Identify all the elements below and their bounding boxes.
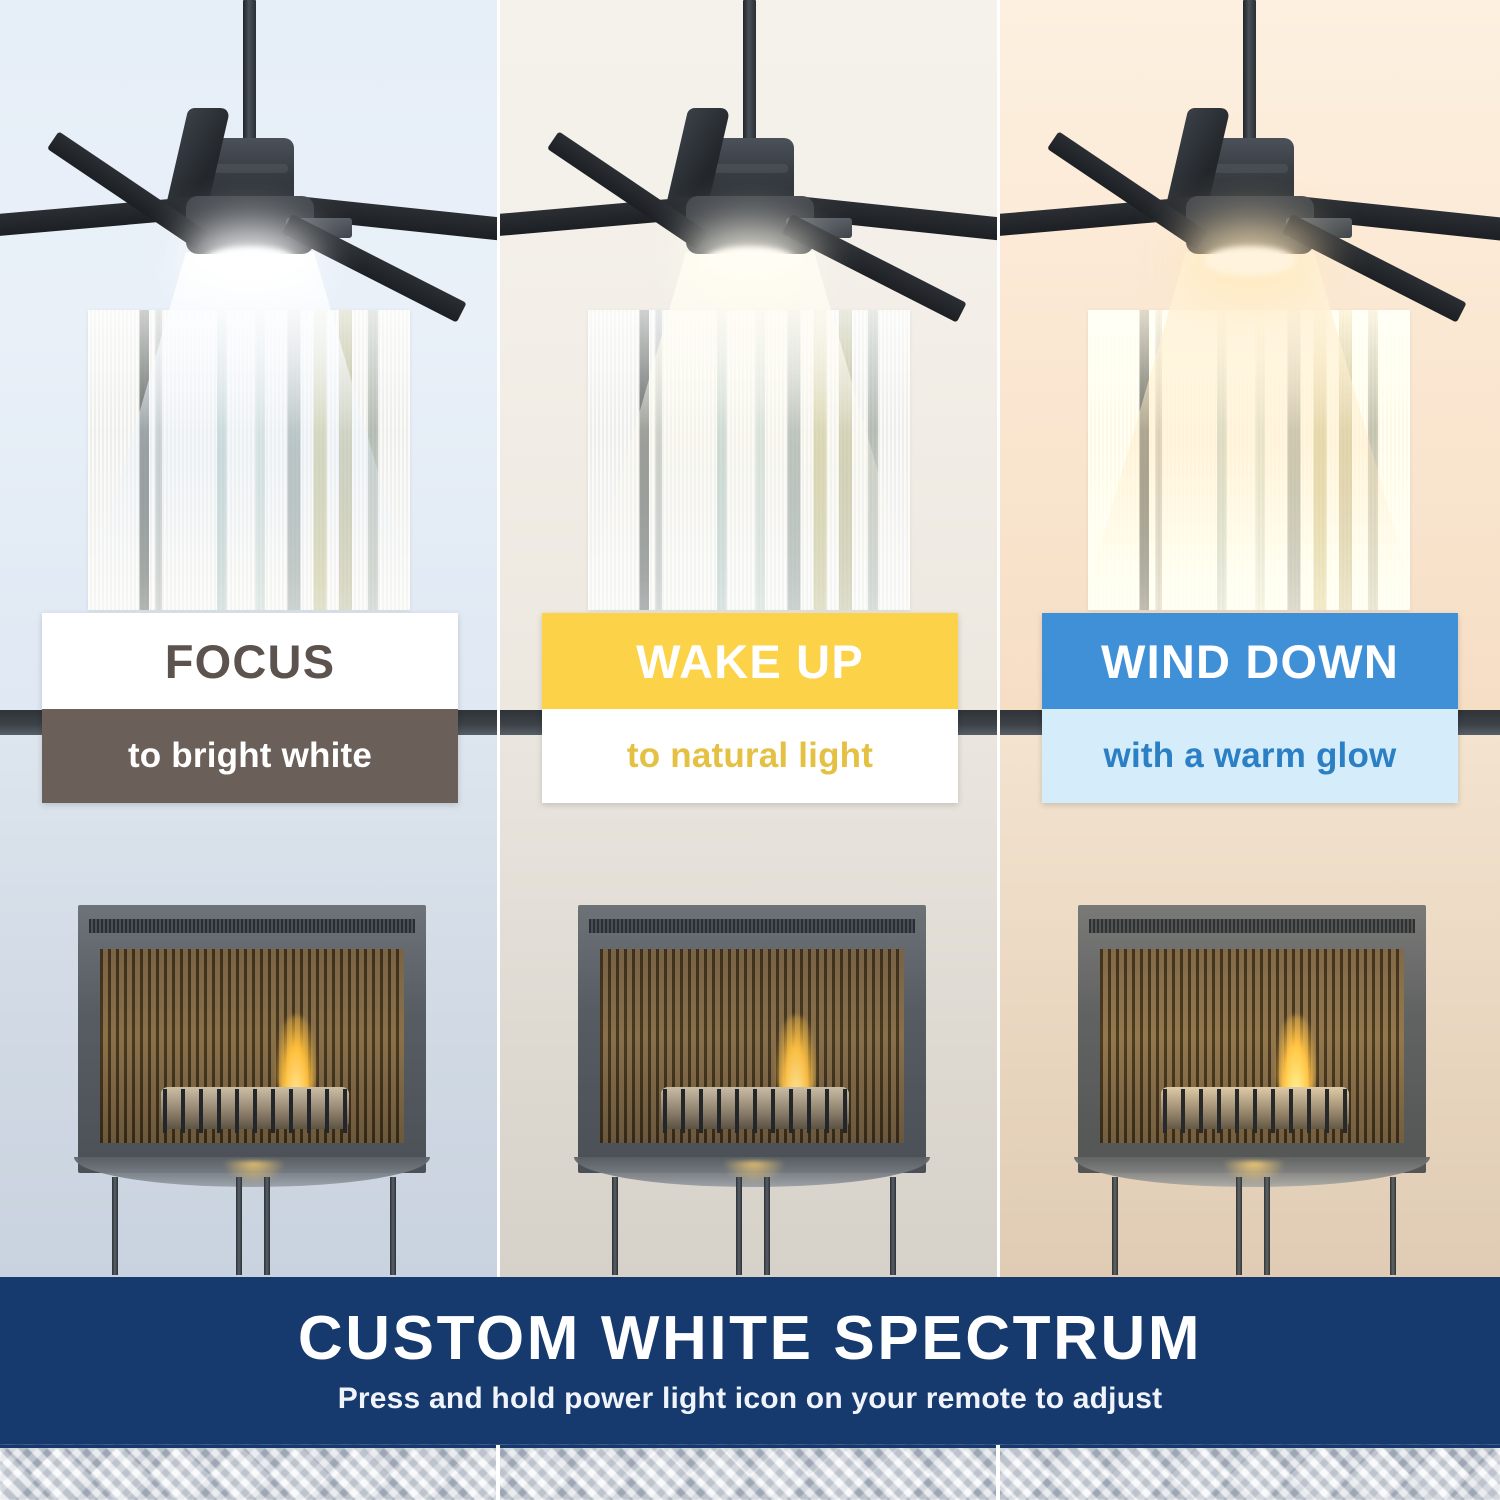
firebox [600, 949, 904, 1143]
fireplace-frame [1078, 905, 1426, 1173]
light-beam [590, 252, 910, 582]
mode-label-wake-up[interactable]: WAKE UP to natural light [542, 613, 958, 803]
console-leg [736, 1177, 742, 1275]
banner-instruction: Press and hold power light icon on your … [338, 1384, 1163, 1414]
console-leg [112, 1177, 118, 1275]
mode-title: WIND DOWN [1042, 613, 1458, 709]
fire-reflection [224, 1161, 284, 1183]
mode-label-focus[interactable]: FOCUS to bright white [42, 613, 458, 803]
ceiling-fan-icon [500, 0, 1000, 330]
fire-reflection [1224, 1161, 1284, 1183]
fireplace-icon [578, 905, 926, 1205]
fan-downrod [243, 0, 256, 150]
fire-grate [149, 1089, 356, 1133]
fireplace-vent [1089, 919, 1415, 933]
console-leg [236, 1177, 242, 1275]
bottom-banner: CUSTOM WHITE SPECTRUM Press and hold pow… [0, 1277, 1500, 1445]
ceiling-fan-icon [1000, 0, 1500, 330]
fireplace-vent [89, 919, 415, 933]
light-beam [90, 252, 410, 582]
console-leg [612, 1177, 618, 1275]
fire-grate [649, 1089, 856, 1133]
fireplace-vent [589, 919, 915, 933]
fire-reflection [724, 1161, 784, 1183]
light-kit-icon [1204, 246, 1296, 276]
console-leg [1264, 1177, 1270, 1275]
fireplace-icon [78, 905, 426, 1205]
mode-subtitle: with a warm glow [1042, 709, 1458, 803]
light-beam [1090, 252, 1410, 582]
light-kit-icon [704, 246, 796, 276]
console-leg [890, 1177, 896, 1275]
console-leg [264, 1177, 270, 1275]
ceiling-fan-icon [0, 0, 500, 330]
banner-edge [0, 1445, 1500, 1448]
label-col-wind-down: WIND DOWN with a warm glow [1000, 613, 1500, 803]
mode-label-wind-down[interactable]: WIND DOWN with a warm glow [1042, 613, 1458, 803]
firebox [100, 949, 404, 1143]
panel-divider [496, 1445, 500, 1500]
label-col-focus: FOCUS to bright white [0, 613, 500, 803]
console-leg [764, 1177, 770, 1275]
fan-downrod [743, 0, 756, 150]
product-feature-graphic: FOCUS to bright white WAKE UP to natural… [0, 0, 1500, 1500]
console-leg [1236, 1177, 1242, 1275]
mode-title: WAKE UP [542, 613, 958, 709]
console-leg [1112, 1177, 1118, 1275]
mode-subtitle: to natural light [542, 709, 958, 803]
fireplace-frame [78, 905, 426, 1173]
console-leg [1390, 1177, 1396, 1275]
label-col-wake-up: WAKE UP to natural light [500, 613, 1000, 803]
fan-downrod [1243, 0, 1256, 150]
fireplace-icon [1078, 905, 1426, 1205]
fireplace-frame [578, 905, 926, 1173]
mode-subtitle: to bright white [42, 709, 458, 803]
fire-grate [1149, 1089, 1356, 1133]
panel-divider [996, 1445, 1000, 1500]
firebox [1100, 949, 1404, 1143]
mode-title: FOCUS [42, 613, 458, 709]
mode-label-row: FOCUS to bright white WAKE UP to natural… [0, 613, 1500, 803]
light-kit-icon [204, 246, 296, 276]
floor-rug [0, 1445, 1500, 1500]
console-leg [390, 1177, 396, 1275]
banner-headline: CUSTOM WHITE SPECTRUM [298, 1308, 1202, 1370]
